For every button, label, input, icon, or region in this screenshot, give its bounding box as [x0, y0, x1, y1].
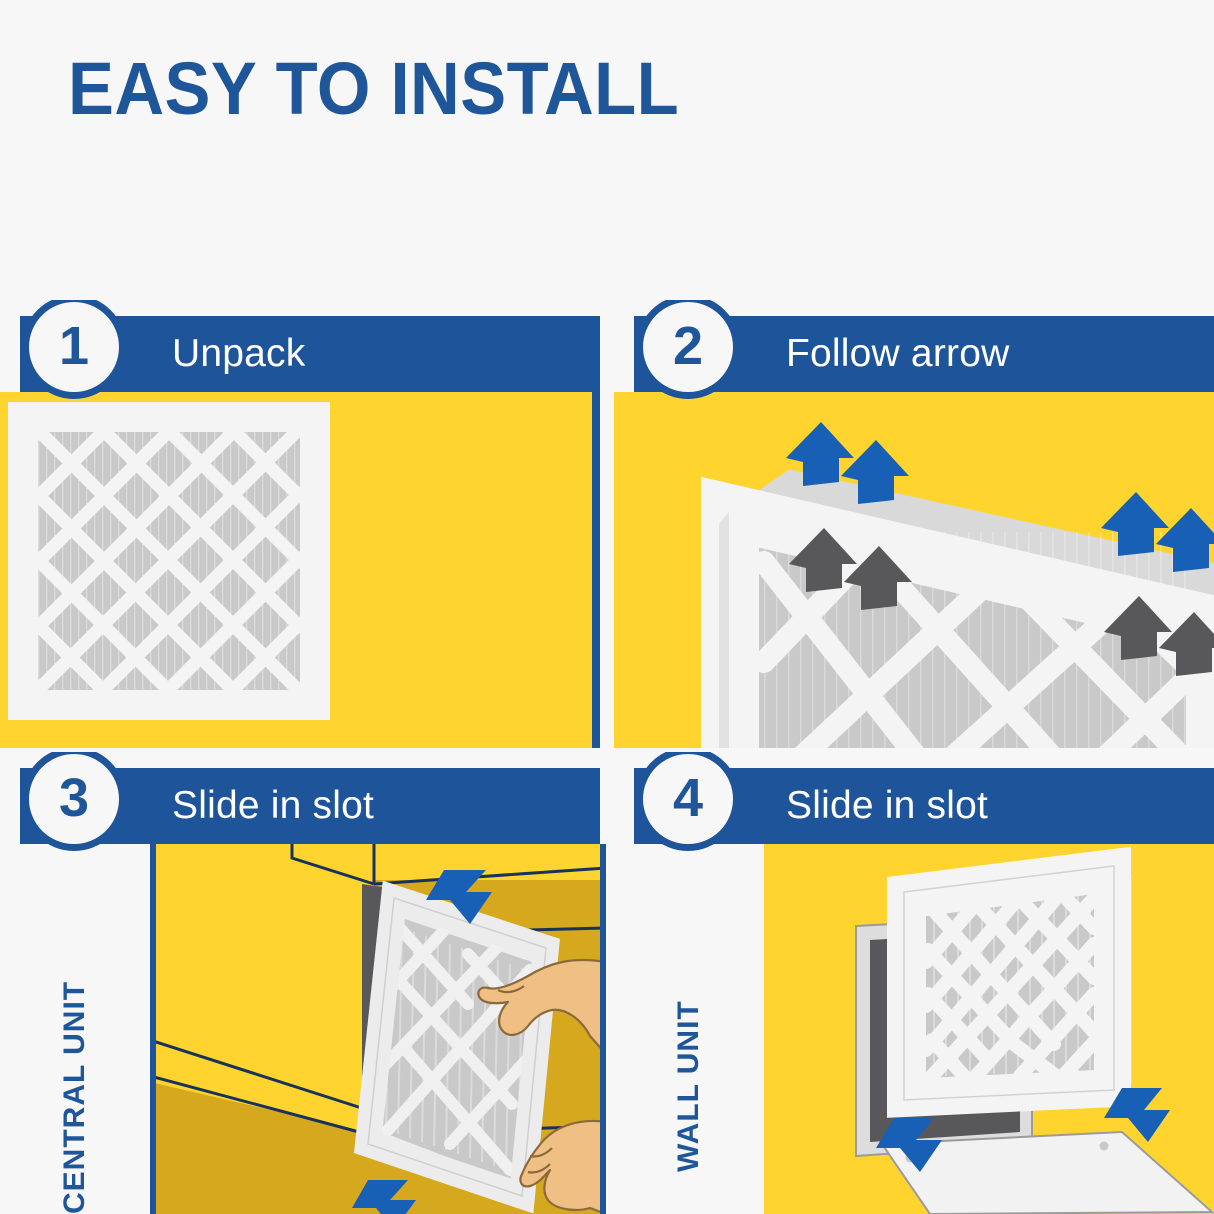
step-panel-3: Slide in slot 3 CENTRAL UNIT: [0, 752, 614, 1214]
filter-inserted-into-wall-return-grille-icon: [764, 844, 1214, 1214]
step-2-number-badge: 2: [636, 300, 740, 399]
step-4-label: Slide in slot: [786, 784, 988, 828]
step-4-illustration-area: [764, 844, 1214, 1214]
step-4-number: 4: [673, 771, 703, 825]
step-1-number: 1: [59, 319, 89, 373]
step-4-side-label: WALL UNIT: [672, 1000, 706, 1172]
step-panel-4: Slide in slot 4 WALL UNIT: [614, 752, 1214, 1214]
step-panel-2: Follow arrow 2: [614, 300, 1214, 748]
step-panel-1: Unpack 1: [0, 300, 600, 748]
air-filter-front-view-icon: [0, 392, 592, 748]
filter-panel: [368, 898, 546, 1196]
filter-panel: [904, 866, 1132, 1100]
step-1-number-badge: 1: [22, 300, 126, 399]
step-2-illustration-area: [614, 392, 1214, 748]
step-1-illustration-area: [0, 392, 592, 748]
step-4-number-badge: 4: [636, 752, 740, 851]
step-3-side-label: CENTRAL UNIT: [58, 981, 92, 1214]
hands-inserting-filter-into-central-unit-icon: [150, 844, 606, 1214]
step-3-illustration-area: [150, 844, 606, 1214]
step-3-label: Slide in slot: [172, 784, 374, 828]
infographic-canvas: EASY TO INSTALL: [0, 0, 1214, 1214]
step-1-label: Unpack: [172, 332, 305, 376]
step-2-label: Follow arrow: [786, 332, 1009, 376]
step-2-number: 2: [673, 319, 703, 373]
page-title: EASY TO INSTALL: [68, 52, 679, 126]
step-3-number: 3: [59, 771, 89, 825]
step-3-number-badge: 3: [22, 752, 126, 851]
panel-1-right-edge: [592, 392, 600, 748]
filter-tilted-with-airflow-arrows-icon: [614, 392, 1214, 748]
panel-3-left-edge: [150, 844, 156, 1214]
